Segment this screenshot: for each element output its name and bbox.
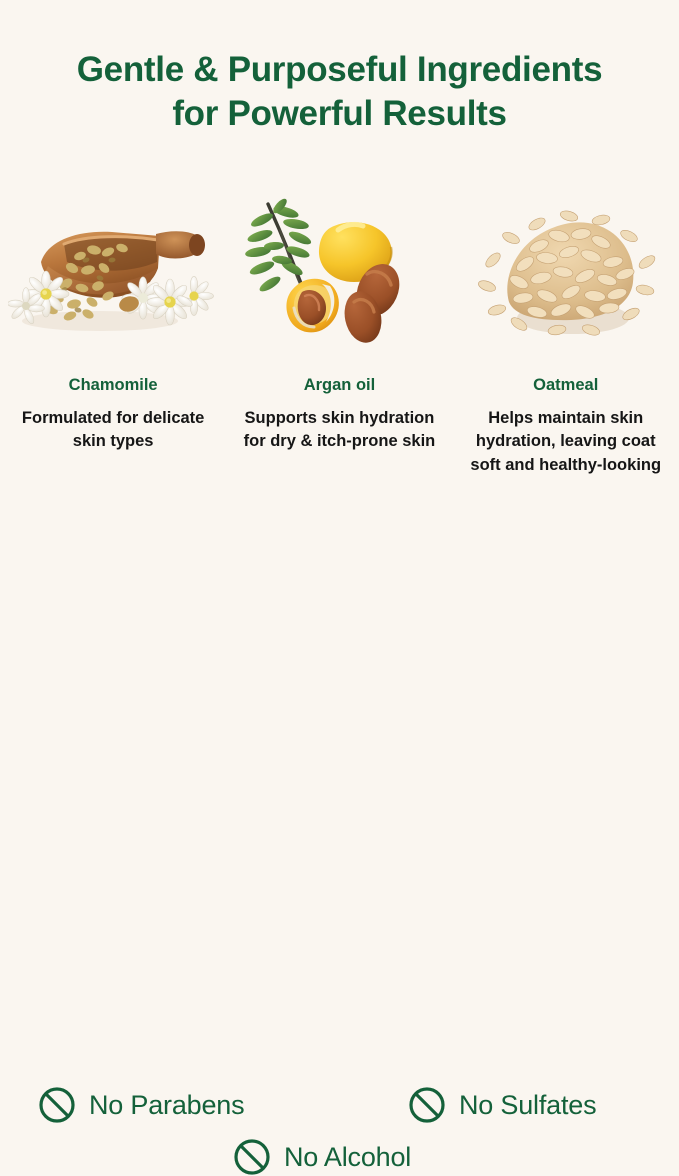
claim-label: No Alcohol <box>284 1144 411 1171</box>
oatmeal-pile-image <box>461 190 671 350</box>
ingredient-name: Oatmeal <box>533 376 598 396</box>
prohibition-icon <box>38 1086 76 1124</box>
ingredient-name: Argan oil <box>304 376 376 396</box>
claim-label: No Sulfates <box>459 1092 596 1119</box>
prohibition-icon <box>408 1086 446 1124</box>
ingredient-columns: Chamomile Formulated for delicate skin t… <box>0 190 679 477</box>
ingredient-description: Helps maintain skin hydration, leaving c… <box>463 407 668 477</box>
claim-label: No Parabens <box>89 1092 244 1119</box>
ingredients-infographic: Gentle & Purposeful Ingredients for Powe… <box>0 0 679 679</box>
prohibition-icon <box>233 1138 271 1176</box>
ingredient-column-argan-oil: Argan oil Supports skin hydration for dr… <box>226 190 452 454</box>
ingredient-description: Supports skin hydration for dry & itch-p… <box>237 407 442 454</box>
argan-fruit-nuts-image <box>234 190 444 350</box>
ingredient-description: Formulated for delicate skin types <box>11 407 216 454</box>
page-title-line-1: Gentle & Purposeful Ingredients <box>0 48 679 92</box>
chamomile-scoop-image <box>8 190 218 350</box>
claim-no-parabens: No Parabens <box>38 1086 244 1124</box>
page-title: Gentle & Purposeful Ingredients for Powe… <box>0 48 679 136</box>
claim-no-alcohol: No Alcohol <box>233 1138 411 1176</box>
page-title-line-2: for Powerful Results <box>0 92 679 136</box>
ingredient-column-chamomile: Chamomile Formulated for delicate skin t… <box>0 190 226 454</box>
ingredient-name: Chamomile <box>69 376 158 396</box>
free-from-claims: No Parabens No Sulfates No Alcohol <box>0 540 679 660</box>
ingredient-column-oatmeal: Oatmeal Helps maintain skin hydration, l… <box>453 190 679 477</box>
claim-no-sulfates: No Sulfates <box>408 1086 596 1124</box>
